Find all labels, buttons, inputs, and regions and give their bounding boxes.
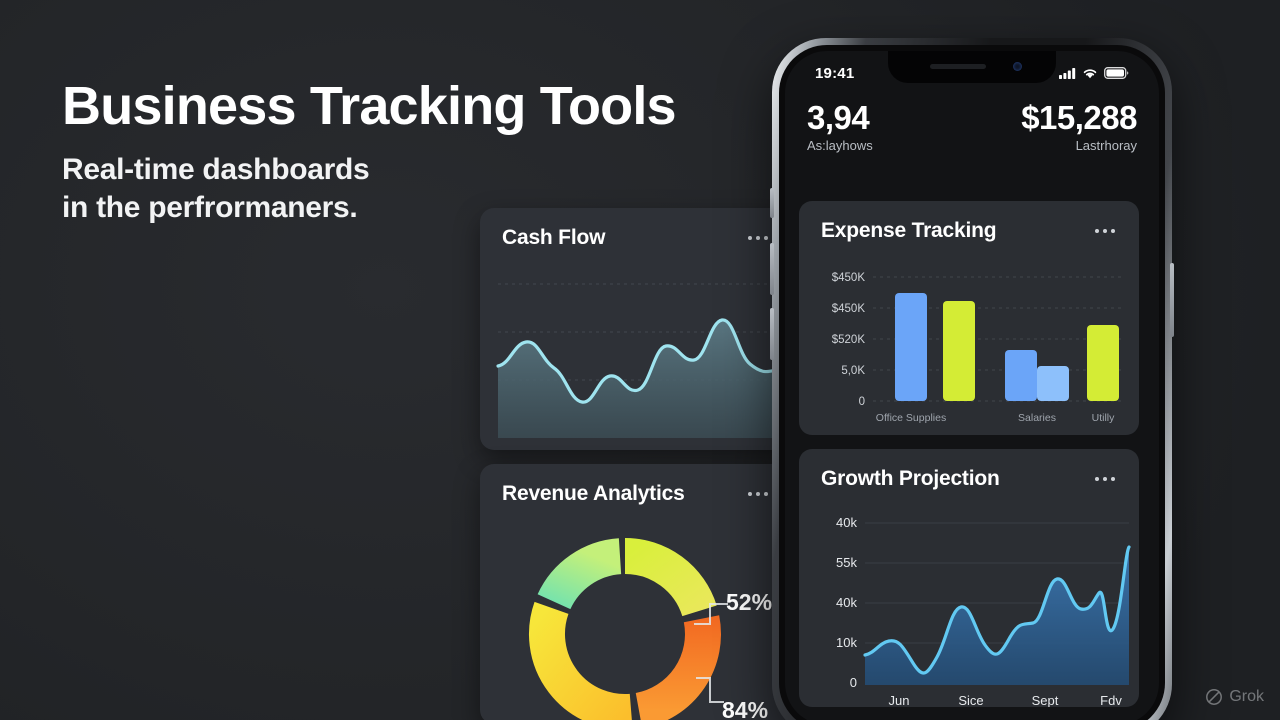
- page-title: Business Tracking Tools: [62, 78, 722, 135]
- card-title-cash-flow: Cash Flow: [502, 226, 605, 250]
- donut-slice-segment-d: [554, 556, 620, 602]
- card-title-revenue-analytics: Revenue Analytics: [502, 482, 685, 506]
- x-axis-tick-labels: Office Supplies Salaries Utilly: [876, 412, 1115, 424]
- stat-secondary-value: $15,288: [1021, 101, 1137, 136]
- stat-secondary: $15,288 Lastrhoray: [1021, 101, 1137, 153]
- stat-secondary-label: Lastrhoray: [1021, 138, 1137, 153]
- grok-logo-icon: [1205, 688, 1223, 706]
- bar-utilly-1: [1087, 325, 1119, 401]
- svg-text:Salaries: Salaries: [1018, 412, 1056, 424]
- svg-text:0: 0: [850, 675, 857, 690]
- svg-text:Office Supplies: Office Supplies: [876, 412, 946, 424]
- grok-watermark: Grok: [1205, 688, 1264, 706]
- battery-icon: [1104, 67, 1129, 79]
- status-bar-time: 19:41: [815, 65, 854, 82]
- svg-text:5,0K: 5,0K: [841, 365, 865, 377]
- growth-area-chart: 40k 55k 40k 10k 0: [799, 497, 1139, 707]
- status-bar-icons: [1059, 67, 1129, 79]
- card-header: Growth Projection: [799, 449, 1139, 497]
- phone-mockup: 19:41: [772, 38, 1172, 720]
- svg-text:Sept: Sept: [1032, 693, 1059, 707]
- bar-salaries-1: [1005, 350, 1037, 401]
- card-revenue-analytics[interactable]: Revenue Analytics: [480, 464, 792, 720]
- hero-subtitle-line-1: Real-time dashboards: [62, 151, 722, 189]
- phone-power-button[interactable]: [1170, 263, 1174, 337]
- donut-slice-segment-a: [625, 556, 700, 611]
- grok-watermark-label: Grok: [1229, 688, 1264, 706]
- poster-canvas: Business Tracking Tools Real-time dashbo…: [0, 0, 1280, 720]
- hero-text-block: Business Tracking Tools Real-time dashbo…: [62, 78, 722, 227]
- more-options-icon[interactable]: [746, 486, 770, 502]
- svg-text:55k: 55k: [836, 555, 857, 570]
- donut-callout-2: 84%: [722, 697, 768, 720]
- cash-flow-chart: [480, 256, 792, 450]
- phone-header-stats: 3,94 As:layhows $15,288 Lastrhoray: [785, 101, 1159, 153]
- phone-volume-down-button[interactable]: [770, 308, 774, 360]
- svg-text:Fdv: Fdv: [1100, 693, 1122, 707]
- phone-mute-button[interactable]: [770, 188, 774, 218]
- card-cash-flow[interactable]: Cash Flow: [480, 208, 792, 450]
- more-options-icon[interactable]: [1093, 471, 1117, 487]
- svg-text:40k: 40k: [836, 595, 857, 610]
- donut-slice-segment-c: [547, 608, 631, 712]
- donut-callout-1: 52%: [726, 589, 772, 615]
- card-header: Expense Tracking: [799, 201, 1139, 249]
- svg-text:$520K: $520K: [832, 334, 866, 346]
- svg-text:$450K: $450K: [832, 303, 866, 315]
- svg-text:$450K: $450K: [832, 272, 866, 284]
- y-axis-tick-labels: 40k 55k 40k 10k 0: [836, 515, 857, 690]
- stat-primary-label: As:layhows: [807, 138, 873, 153]
- bar-office-supplies-2: [943, 301, 975, 401]
- card-growth-projection[interactable]: Growth Projection 40k 55k: [799, 449, 1139, 707]
- stat-primary: 3,94 As:layhows: [807, 101, 873, 153]
- wifi-icon: [1082, 67, 1098, 79]
- cash-flow-area-fill: [498, 320, 776, 438]
- card-expense-tracking[interactable]: Expense Tracking $450K $450K $520K 5,0K …: [799, 201, 1139, 435]
- donut-slice-segment-b: [639, 619, 703, 711]
- revenue-donut-chart: 52% 84%: [480, 512, 792, 720]
- stat-primary-value: 3,94: [807, 101, 873, 136]
- growth-area-fill: [865, 547, 1129, 685]
- bar-office-supplies-1: [895, 293, 927, 401]
- phone-screen: 19:41: [785, 51, 1159, 720]
- svg-text:Jun: Jun: [889, 693, 910, 707]
- svg-text:Sice: Sice: [958, 693, 983, 707]
- x-axis-tick-labels: Jun Sice Sept Fdv: [889, 693, 1123, 707]
- more-options-icon[interactable]: [1093, 223, 1117, 239]
- y-axis-tick-labels: $450K $450K $520K 5,0K 0: [832, 272, 866, 408]
- svg-text:0: 0: [859, 396, 865, 408]
- donut-segments: [547, 556, 703, 712]
- card-header: Cash Flow: [480, 208, 792, 256]
- bar-salaries-2: [1037, 366, 1069, 401]
- svg-text:40k: 40k: [836, 515, 857, 530]
- phone-status-bar: 19:41: [785, 51, 1159, 95]
- svg-text:Utilly: Utilly: [1092, 412, 1115, 424]
- cellular-signal-icon: [1059, 67, 1076, 79]
- card-header: Revenue Analytics: [480, 464, 792, 512]
- card-title-growth-projection: Growth Projection: [821, 467, 1000, 491]
- bars: [895, 293, 1119, 401]
- phone-volume-up-button[interactable]: [770, 243, 774, 295]
- expense-bar-chart: $450K $450K $520K 5,0K 0: [799, 249, 1139, 435]
- card-title-expense-tracking: Expense Tracking: [821, 219, 996, 243]
- more-options-icon[interactable]: [746, 230, 770, 246]
- svg-text:10k: 10k: [836, 635, 857, 650]
